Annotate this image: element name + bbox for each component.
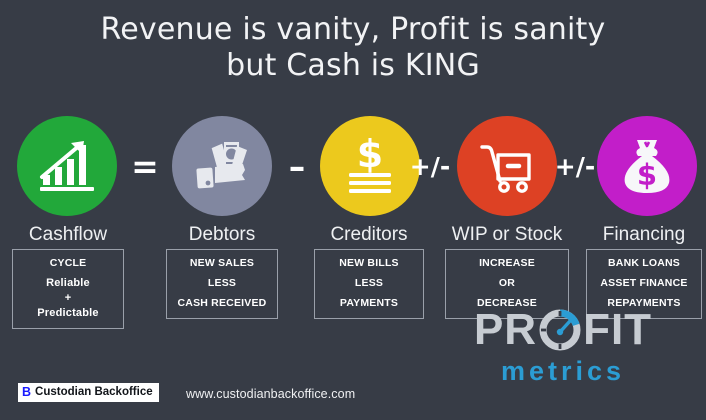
column-creditors: Creditors NEW BILLS LESS PAYMENTS — [314, 224, 424, 319]
detail-line: Reliable — [20, 276, 116, 291]
svg-text:$: $ — [357, 135, 383, 176]
operator-minus: – — [276, 116, 318, 216]
dollar-invoice-icon: $ — [339, 135, 401, 197]
detail-line: LESS — [174, 276, 270, 291]
icon-circle-wip — [457, 116, 557, 216]
logo-wordmark: PR FIT — [438, 306, 688, 354]
detail-box-debtors: NEW SALES LESS CASH RECEIVED — [166, 249, 278, 319]
detail-line: PAYMENTS — [322, 296, 416, 311]
icon-circle-financing: $ — [597, 116, 697, 216]
column-cashflow: Cashflow CYCLE Reliable + Predictable — [12, 224, 124, 329]
column-label-cashflow: Cashflow — [12, 224, 124, 246]
logo-word-right: FIT — [583, 307, 652, 353]
column-label-financing: Financing — [586, 224, 702, 246]
title-line-2: but Cash is KING — [0, 48, 706, 84]
detail-box-creditors: NEW BILLS LESS PAYMENTS — [314, 249, 424, 319]
column-label-creditors: Creditors — [314, 224, 424, 246]
profit-metrics-logo: PR FIT metrics — [438, 306, 688, 394]
page-title: Revenue is vanity, Profit is sanity but … — [0, 12, 706, 84]
svg-text:$: $ — [637, 158, 657, 192]
shopping-cart-icon — [476, 137, 538, 195]
detail-line: LESS — [322, 276, 416, 291]
detail-line: + — [20, 291, 116, 306]
operator-plus-minus-2: +/- — [551, 116, 599, 216]
money-bag-icon: $ — [616, 135, 678, 197]
b-logo-icon: B — [22, 385, 31, 399]
detail-line: OR — [453, 276, 561, 291]
growth-chart-icon — [36, 137, 98, 195]
detail-line: INCREASE — [453, 256, 561, 271]
detail-line: NEW SALES — [174, 256, 270, 271]
logo-subtitle: metrics — [438, 356, 688, 387]
column-label-debtors: Debtors — [166, 224, 278, 246]
column-label-wip: WIP or Stock — [445, 224, 569, 246]
detail-line: Predictable — [20, 306, 116, 321]
detail-box-cashflow: CYCLE Reliable + Predictable — [12, 249, 124, 329]
equation-icon-row: = – $ — [0, 116, 706, 218]
speedometer-icon — [538, 308, 582, 352]
icon-circle-cashflow — [17, 116, 117, 216]
detail-line: ASSET FINANCE — [594, 276, 694, 291]
wallet-cash-icon — [191, 137, 253, 195]
detail-line: CASH RECEIVED — [174, 296, 270, 311]
column-debtors: Debtors NEW SALES LESS CASH RECEIVED — [166, 224, 278, 319]
custodian-backoffice-badge: B Custodian Backoffice — [18, 383, 159, 402]
detail-line: CYCLE — [20, 256, 116, 271]
website-url: www.custodianbackoffice.com — [186, 387, 355, 401]
logo-word-left: PR — [474, 307, 537, 353]
detail-line: BANK LOANS — [594, 256, 694, 271]
operator-plus-minus-1: +/- — [404, 116, 456, 216]
badge-text: Custodian Backoffice — [35, 386, 153, 398]
infographic-canvas: Revenue is vanity, Profit is sanity but … — [0, 0, 706, 420]
operator-equals: = — [122, 116, 168, 216]
detail-line: NEW BILLS — [322, 256, 416, 271]
icon-circle-debtors — [172, 116, 272, 216]
title-line-1: Revenue is vanity, Profit is sanity — [101, 12, 606, 47]
